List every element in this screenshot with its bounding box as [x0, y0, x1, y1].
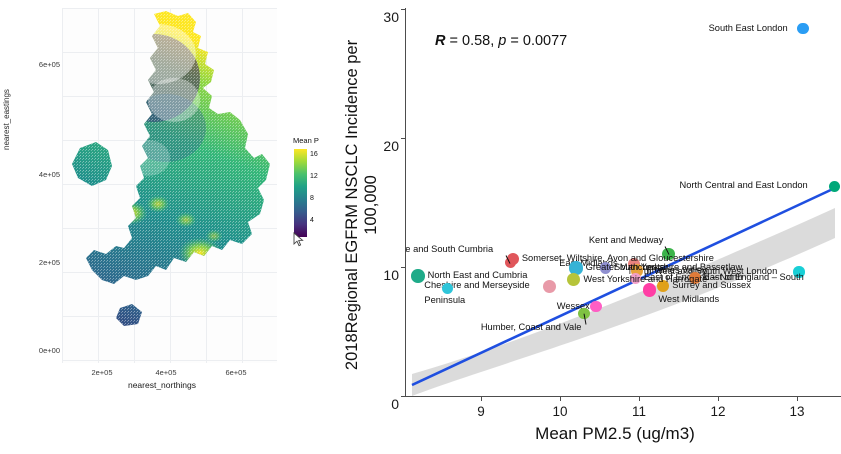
x-tick-mark-13 [797, 396, 798, 401]
colorbar-tick-12: 12 [310, 173, 318, 180]
scatter-panel: 2018Regional EGFRM NSCLC Incidence per 1… [345, 0, 841, 454]
scatter-point[interactable] [411, 269, 425, 283]
map-x-tick-1: 4e+05 [146, 368, 186, 377]
scatter-point-label: West Yorkshire and Harrogate [583, 274, 707, 284]
scatter-point-label: South East London [709, 23, 788, 33]
map-panel: nearest_eastings 0e+00 2e+05 4e+05 6e+05 [0, 0, 340, 404]
scatter-x-tick-10: 10 [545, 404, 575, 419]
scatter-x-tick-13: 13 [782, 404, 812, 419]
scatter-point-label: Humber, Coast and Vale [481, 322, 582, 332]
scatter-point-label: Cheshire and Merseyside [424, 280, 529, 290]
scatter-point-label: North East and Cumbria [428, 270, 528, 280]
scatter-point-label: Kent and Medway [589, 235, 663, 245]
map-y-tick-2: 4e+05 [18, 170, 60, 179]
map-y-axis-label: nearest_eastings [2, 136, 11, 150]
colorbar-tick-16: 16 [310, 151, 318, 158]
scatter-point-label: Peninsula [424, 295, 465, 305]
x-tick-mark-10 [560, 396, 561, 401]
scatter-x-tick-12: 12 [703, 404, 733, 419]
scatter-y-axis-title-text: 2018Regional EGFRM NSCLC Incidence per 1… [343, 25, 381, 385]
scatter-point-label: Greater Manchester [586, 262, 669, 272]
scatter-y-tick-30: 30 [371, 9, 399, 25]
scatter-y-tick-0: 0 [371, 396, 399, 412]
scatter-x-tick-9: 9 [466, 404, 496, 419]
scatter-point-label: Lancashire and South Cumbria [406, 244, 493, 254]
mouse-pointer-icon [293, 232, 304, 247]
map-colorbar-legend: Mean P 16 12 8 4 [293, 136, 341, 246]
map-y-tick-3: 6e+05 [18, 60, 60, 69]
scatter-point-label: North Central and East London [680, 180, 808, 190]
correlation-annotation: R = 0.58, p = 0.0077 [435, 33, 567, 49]
scatter-y-tick-20: 20 [371, 138, 399, 154]
scatter-point[interactable] [643, 283, 656, 296]
map-y-tick-1: 2e+05 [18, 258, 60, 267]
scatter-y-tick-10: 10 [371, 267, 399, 283]
scatter-point[interactable] [543, 280, 556, 293]
r-symbol: R [435, 33, 445, 49]
map-x-tick-0: 2e+05 [82, 368, 122, 377]
x-tick-mark-11 [639, 396, 640, 401]
scatter-point[interactable] [590, 301, 601, 312]
scatter-x-axis-line [405, 396, 841, 397]
colorbar-tick-8: 8 [310, 195, 314, 202]
r-value-text: = 0.58, [445, 33, 498, 49]
map-plot-area [62, 8, 277, 363]
regression-overlay [406, 8, 841, 396]
x-tick-mark-9 [481, 396, 482, 401]
colorbar-gradient [294, 149, 307, 237]
scatter-point-label: West Midlands [658, 294, 719, 304]
p-value-text: = 0.0077 [506, 33, 567, 49]
map-x-tick-2: 6e+05 [216, 368, 256, 377]
scatter-point-label: Somerset, Wiltshire, Avon and Gloucester… [522, 253, 714, 263]
colorbar-title: Mean P [293, 136, 319, 145]
scatter-point[interactable] [797, 23, 808, 34]
scatter-point[interactable] [442, 283, 453, 294]
figure-root: nearest_eastings 0e+00 2e+05 4e+05 6e+05 [0, 0, 841, 454]
scatter-x-tick-11: 11 [624, 404, 654, 419]
map-y-tick-0: 0e+00 [18, 346, 60, 355]
scatter-plot-area: South East LondonNorth Central and East … [406, 8, 841, 396]
map-x-axis-label: nearest_northings [62, 380, 262, 390]
x-tick-mark-12 [718, 396, 719, 401]
colorbar-tick-4: 4 [310, 217, 314, 224]
uk-pm25-raster-map [62, 8, 277, 363]
scatter-x-axis-title: Mean PM2.5 (ug/m3) [405, 424, 825, 444]
scatter-y-axis-title: 2018Regional EGFRM NSCLC Incidence per 1… [347, 8, 371, 378]
